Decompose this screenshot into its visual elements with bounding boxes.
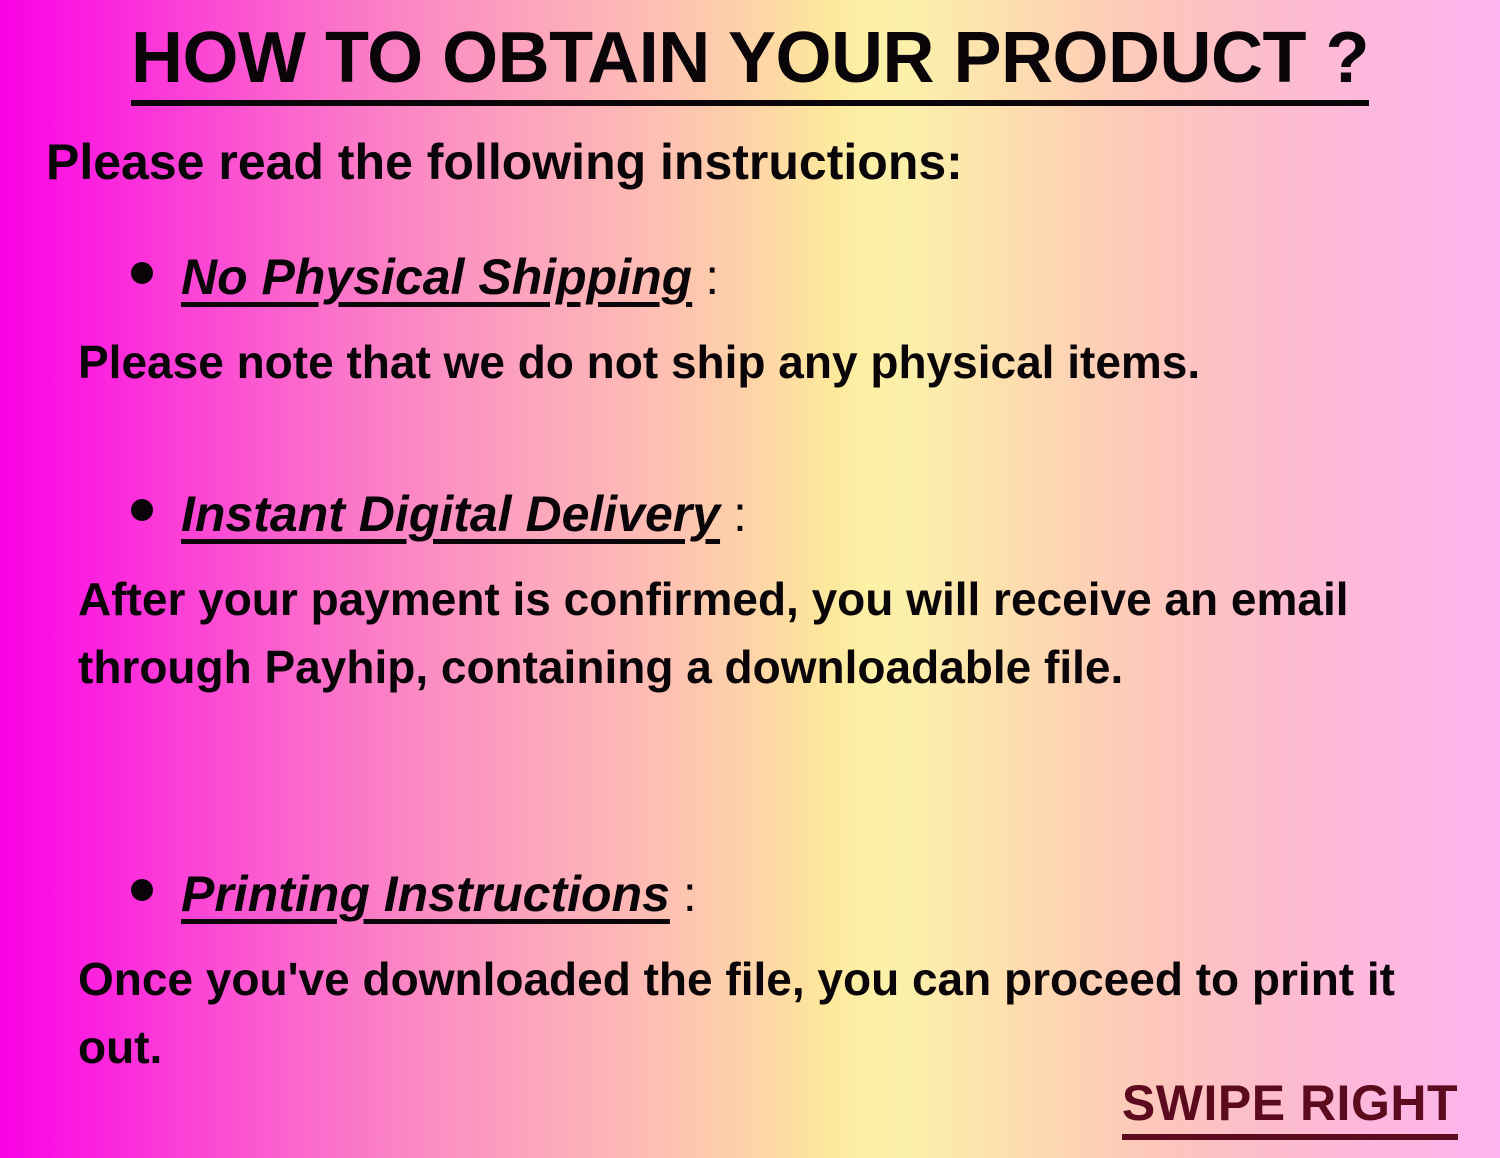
bullet-line: No Physical Shipping : bbox=[0, 250, 1500, 305]
page-title: HOW TO OBTAIN YOUR PRODUCT ? bbox=[131, 22, 1369, 106]
bullet-line: Instant Digital Delivery : bbox=[0, 487, 1500, 542]
bullet-line: Printing Instructions : bbox=[0, 867, 1500, 922]
title-row: HOW TO OBTAIN YOUR PRODUCT ? bbox=[0, 22, 1500, 106]
heading-colon: : bbox=[733, 487, 747, 542]
bullet-dot-icon bbox=[131, 879, 153, 901]
section-body: After your payment is confirmed, you wil… bbox=[0, 566, 1418, 701]
section-body: Once you've downloaded the file, you can… bbox=[0, 946, 1418, 1081]
heading-colon: : bbox=[705, 250, 719, 305]
bullet-dot-icon bbox=[131, 262, 153, 284]
instruction-section-no-physical-shipping: No Physical Shipping : Please note that … bbox=[0, 250, 1500, 397]
instruction-section-printing-instructions: Printing Instructions : Once you've down… bbox=[0, 867, 1500, 1081]
bullet-dot-icon bbox=[131, 499, 153, 521]
heading-colon: : bbox=[683, 867, 697, 922]
section-body-text: Once you've downloaded the file, you can… bbox=[78, 946, 1418, 1081]
section-heading: No Physical Shipping bbox=[181, 250, 692, 305]
section-body-text: After your payment is confirmed, you wil… bbox=[78, 566, 1418, 701]
section-heading: Printing Instructions bbox=[181, 867, 670, 922]
swipe-right-label: SWIPE RIGHT bbox=[1122, 1077, 1458, 1141]
section-heading: Instant Digital Delivery bbox=[181, 487, 720, 542]
instruction-section-instant-digital-delivery: Instant Digital Delivery : After your pa… bbox=[0, 487, 1500, 701]
section-body-text: Please note that we do not ship any phys… bbox=[78, 329, 1418, 397]
instructions-poster: HOW TO OBTAIN YOUR PRODUCT ? Please read… bbox=[0, 0, 1500, 1158]
subtitle: Please read the following instructions: bbox=[46, 136, 963, 189]
section-body: Please note that we do not ship any phys… bbox=[0, 329, 1418, 397]
